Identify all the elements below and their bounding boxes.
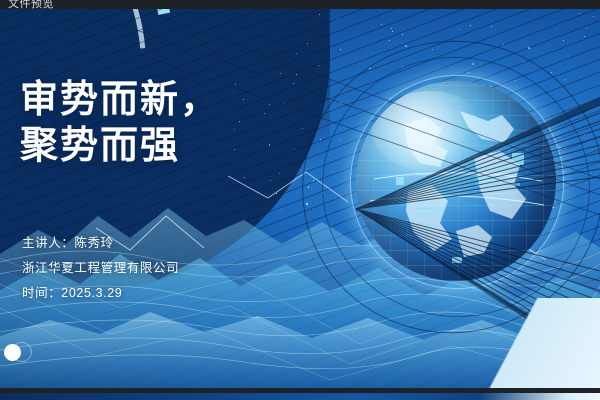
star-dot [302,128,303,129]
star-dot [235,83,237,85]
star-dot [405,45,407,47]
pointer-dot-icon[interactable] [4,344,21,361]
star-dot [392,31,393,32]
star-dot [340,49,341,50]
window-bottom-bar [0,388,600,393]
star-dot [381,24,382,25]
slide-title: 审势而新， 聚势而强 [20,77,220,170]
star-dot [563,40,564,41]
slide-title-line1: 审势而新， [20,79,220,121]
star-dot [584,36,585,37]
star-dot [503,44,504,45]
window-titlebar: 文件预览 [0,0,600,9]
star-dot [296,53,297,54]
bottom-right-wedge [460,298,600,388]
star-dot [269,144,271,146]
star-dot [234,129,235,130]
star-dot [280,73,281,74]
slide-meta: 主讲人：陈秀玲 浙江华夏工程管理有限公司 时间：2025.3.29 [22,231,179,306]
star-dot [294,149,295,150]
star-dot [337,18,338,19]
star-dot [243,99,244,100]
star-dot [389,40,390,41]
star-dot [528,47,530,49]
presenter-label: 主讲人：陈秀玲 [22,231,179,256]
slide-canvas[interactable]: 审势而新， 聚势而强 主讲人：陈秀玲 浙江华夏工程管理有限公司 时间：2025.… [0,9,600,388]
star-dot [318,65,319,66]
star-dot [234,149,235,150]
star-dot [307,43,308,44]
presentation-viewer: 文件预览 [0,0,600,400]
company-label: 浙江华夏工程管理有限公司 [22,256,179,281]
star-dot [391,28,392,29]
star-dot [470,25,471,26]
slide-title-line2: 聚势而强 [20,123,220,169]
next-slide-strip[interactable] [0,393,600,400]
date-label: 时间：2025.3.29 [22,281,179,306]
star-dot [579,13,580,14]
star-dot [491,26,492,27]
star-dot [296,74,297,75]
star-dot [319,14,321,16]
star-dot [284,103,285,104]
next-slide-wedge [480,393,600,400]
star-dot [293,83,294,84]
star-dot [459,29,460,30]
star-dot [402,34,403,35]
globe-rim-glow [350,75,564,289]
star-dot [269,104,270,105]
star-dot [593,16,594,17]
star-dot [239,121,240,122]
star-dot [586,27,587,28]
digital-globe [344,71,568,295]
window-title-label: 文件预览 [8,0,54,9]
star-dot [264,113,265,114]
